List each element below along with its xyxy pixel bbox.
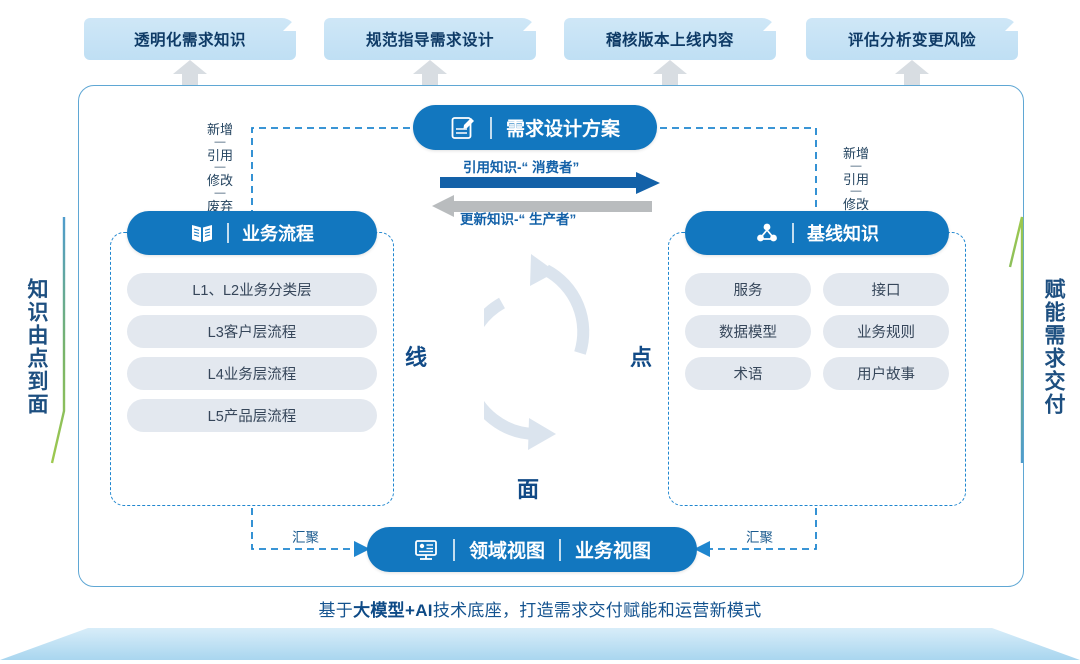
document-edit-icon (450, 115, 476, 141)
business-process-panel: 业务流程 L1、L2业务分类层 L3客户层流程 L4业务层流程 L5产品层流程 (110, 232, 394, 506)
top-box-risk-analysis[interactable]: 评估分析变更风险 (806, 18, 1018, 60)
baseline-knowledge-chip-grid: 服务 接口 数据模型 业务规则 术语 用户故事 (685, 273, 949, 390)
edge-divider: — (197, 163, 243, 173)
right-edge-operations: 新增 — 引用 — 修改 (833, 146, 879, 213)
requirement-design-label: 需求设计方案 (506, 114, 620, 141)
knowledge-node-icon (755, 221, 779, 245)
domain-view-label: 领域视图 (469, 536, 545, 563)
caption-prefix: 基于 (318, 601, 353, 620)
edge-divider: — (833, 187, 879, 197)
cycle-label-plane: 面 (517, 472, 539, 504)
right-side-caption: 赋能需求交付 (1031, 222, 1065, 472)
pill-divider (559, 539, 561, 561)
open-book-icon (190, 221, 214, 245)
caption-middle: +AI (405, 601, 433, 620)
top-box-label: 稽核版本上线内容 (606, 28, 734, 50)
pill-divider (453, 539, 455, 561)
top-box-transparent-knowledge[interactable]: 透明化需求知识 (84, 18, 296, 60)
footer-caption: 基于大模型+AI技术底座，打造需求交付赋能和运营新模式 (0, 596, 1080, 621)
business-view-label: 业务视图 (575, 536, 651, 563)
aggregate-label-left: 汇聚 (292, 526, 319, 546)
list-item[interactable]: 术语 (685, 357, 811, 390)
list-item[interactable]: 业务规则 (823, 315, 949, 348)
top-box-label: 透明化需求知识 (134, 28, 246, 50)
requirement-design-pill[interactable]: 需求设计方案 (413, 105, 657, 150)
update-knowledge-label: 更新知识-“ 生产者” (460, 208, 576, 228)
list-item[interactable]: L5产品层流程 (127, 399, 377, 432)
left-edge-operations: 新增 — 引用 — 修改 — 废弃 (197, 122, 243, 214)
list-item[interactable]: 数据模型 (685, 315, 811, 348)
list-item[interactable]: 接口 (823, 273, 949, 306)
list-item[interactable]: 服务 (685, 273, 811, 306)
list-item[interactable]: L3客户层流程 (127, 315, 377, 348)
views-pill[interactable]: 领域视图 业务视图 (367, 527, 697, 572)
pill-divider (227, 223, 229, 243)
left-bracket-icon (50, 215, 76, 465)
cycle-label-point: 点 (630, 340, 652, 372)
left-side-caption: 知识由点到面 (14, 222, 48, 472)
pill-divider (792, 223, 794, 243)
list-item[interactable]: 用户故事 (823, 357, 949, 390)
top-box-label: 评估分析变更风险 (848, 28, 976, 50)
list-item[interactable]: L1、L2业务分类层 (127, 273, 377, 306)
cycle-label-line: 线 (405, 340, 427, 372)
top-box-audit-release[interactable]: 稽核版本上线内容 (564, 18, 776, 60)
business-process-chip-list: L1、L2业务分类层 L3客户层流程 L4业务层流程 L5产品层流程 (127, 273, 377, 432)
edge-divider: — (197, 138, 243, 148)
bottom-ribbon (0, 628, 1080, 664)
caption-strong: 大模型 (353, 601, 405, 620)
view-board-icon (413, 539, 439, 561)
aggregate-label-right: 汇聚 (746, 526, 773, 546)
baseline-knowledge-panel: 基线知识 服务 接口 数据模型 业务规则 术语 用户故事 (668, 232, 966, 506)
cite-knowledge-label: 引用知识-“ 消费者” (463, 156, 579, 176)
circulation-arrows-icon (484, 248, 594, 458)
list-item[interactable]: L4业务层流程 (127, 357, 377, 390)
pill-divider (490, 117, 492, 139)
edge-divider: — (833, 162, 879, 172)
baseline-knowledge-title: 基线知识 (807, 220, 879, 246)
baseline-knowledge-header[interactable]: 基线知识 (685, 211, 949, 255)
business-process-header[interactable]: 业务流程 (127, 211, 377, 255)
business-process-title: 业务流程 (242, 220, 314, 246)
edge-divider: — (197, 189, 243, 199)
caption-suffix: 技术底座，打造需求交付赋能和运营新模式 (433, 601, 762, 620)
right-bracket-icon (1006, 215, 1032, 465)
top-box-label: 规范指导需求设计 (366, 28, 494, 50)
top-box-standard-design[interactable]: 规范指导需求设计 (324, 18, 536, 60)
